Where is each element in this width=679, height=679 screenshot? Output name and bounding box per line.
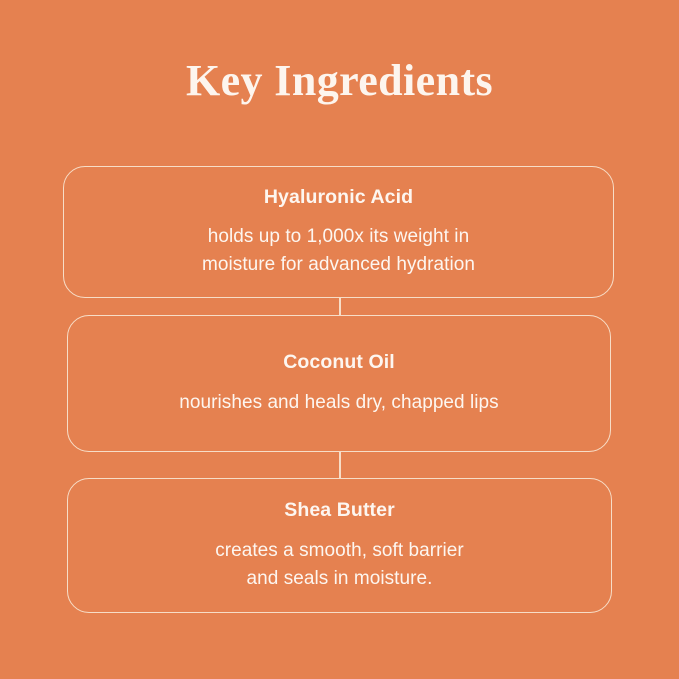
page-title: Key Ingredients: [0, 57, 679, 105]
connector-line-2: [339, 452, 341, 479]
connector-line-1: [339, 298, 341, 316]
ingredient-description: nourishes and heals dry, chapped lips: [179, 389, 498, 417]
ingredient-card-shea-butter: Shea Butter creates a smooth, soft barri…: [67, 478, 612, 613]
ingredient-name: Coconut Oil: [283, 351, 395, 374]
ingredient-card-hyaluronic-acid: Hyaluronic Acid holds up to 1,000x its w…: [63, 166, 614, 298]
ingredient-description: creates a smooth, soft barrier and seals…: [215, 537, 464, 592]
key-ingredients-infographic: Key Ingredients Hyaluronic Acid holds up…: [0, 0, 679, 679]
ingredient-card-coconut-oil: Coconut Oil nourishes and heals dry, cha…: [67, 315, 611, 452]
ingredient-name: Hyaluronic Acid: [264, 186, 413, 209]
ingredient-name: Shea Butter: [284, 499, 395, 522]
ingredient-description: holds up to 1,000x its weight in moistur…: [202, 223, 475, 278]
